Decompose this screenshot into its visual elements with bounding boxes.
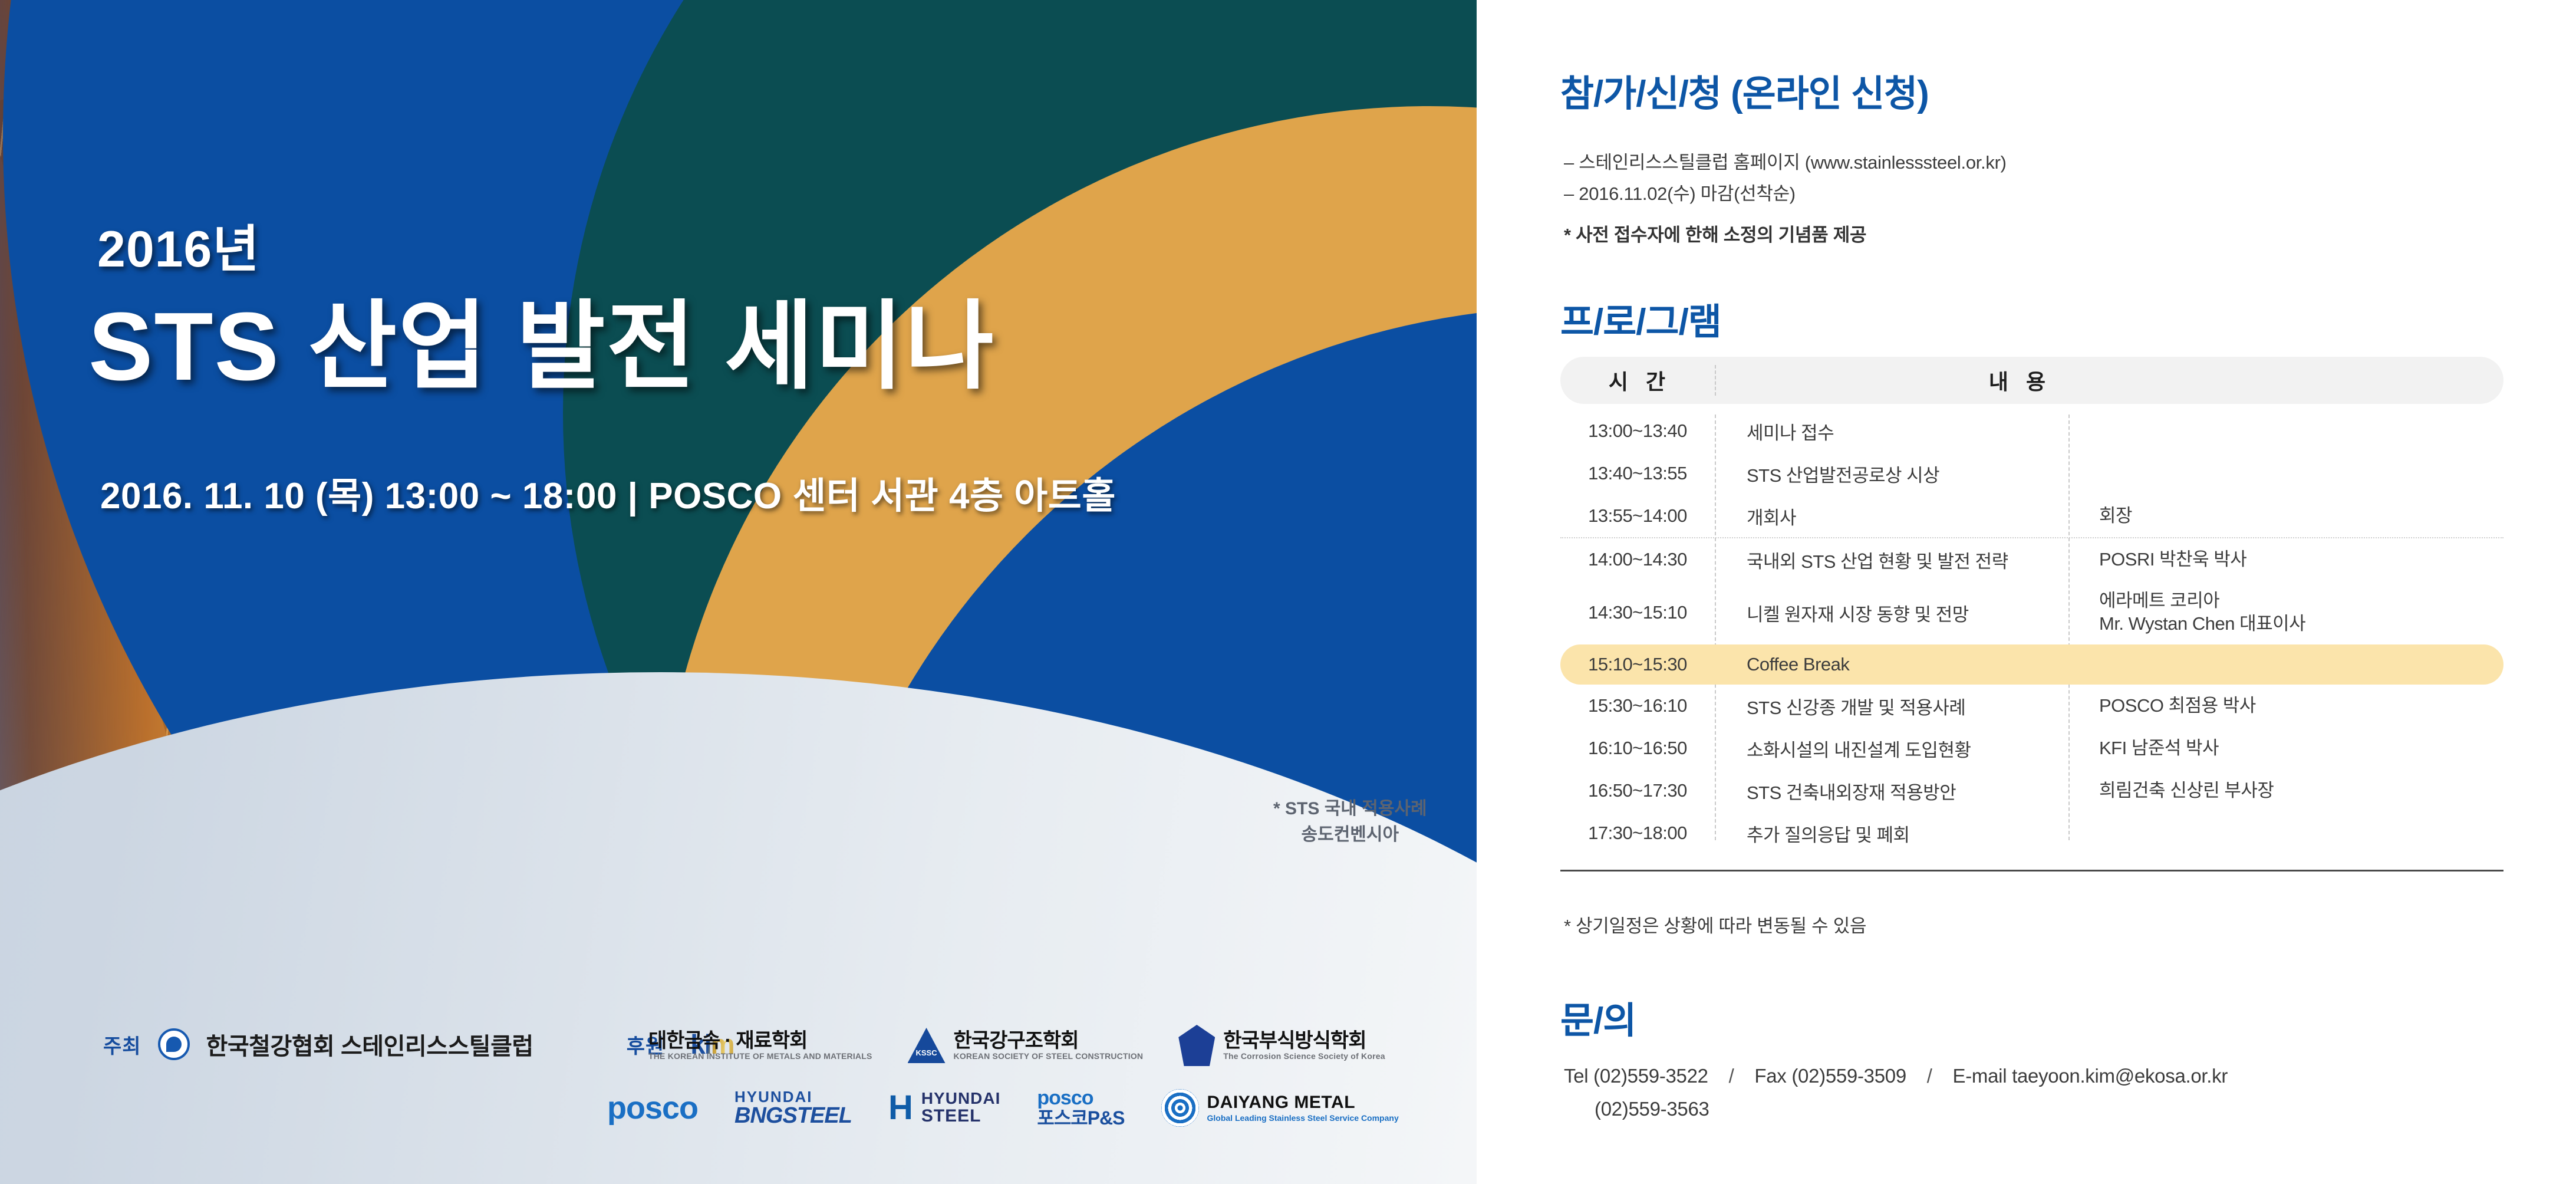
program-row: 14:30~15:10니켈 원자재 시장 동향 및 전망에라메트 코리아Mr. …: [1560, 581, 2503, 644]
contact-email-label: E-mail: [1953, 1065, 2007, 1087]
program-section-title: 프/로/그/램: [1560, 292, 1721, 345]
host-label: 주최: [103, 1030, 141, 1059]
program-row-topic: 추가 질의응답 및 폐회: [1715, 820, 2068, 847]
program-row: 15:10~15:30Coffee Break: [1560, 644, 2503, 685]
contact-secondary-tel: (02)559-3563: [1595, 1098, 1709, 1120]
posco-pns-logo: posco 포스코P&S: [1037, 1088, 1124, 1127]
program-table-bottom-rule: [1560, 870, 2503, 871]
daiyang-metal-line2: Global Leading Stainless Steel Service C…: [1207, 1113, 1399, 1123]
program-row-time: 13:55~14:00: [1560, 505, 1715, 527]
program-row-topic: 개회사: [1715, 503, 2068, 529]
program-row-time: 14:00~14:30: [1560, 549, 1715, 570]
program-row-topic: STS 신강종 개발 및 적용사례: [1715, 693, 2068, 719]
contact-email-value[interactable]: taeyoon.kim@ekosa.or.kr: [2012, 1065, 2228, 1087]
program-row-time: 15:30~16:10: [1560, 695, 1715, 716]
corrosion-society-name-kr: 한국부식방식학회: [1223, 1031, 1385, 1052]
kssc-society-name-en: KOREAN SOCIETY OF STEEL CONSTRUCTION: [954, 1052, 1144, 1061]
program-row-time: 17:30~18:00: [1560, 823, 1715, 844]
daiyang-metal-logo: DAIYANG METAL Global Leading Stainless S…: [1161, 1089, 1399, 1127]
program-row: 13:00~13:40세미나 접수: [1560, 410, 2503, 452]
program-row-speaker: 에라메트 코리아Mr. Wystan Chen 대표이사: [2068, 590, 2503, 636]
program-row-topic: Coffee Break: [1715, 654, 2068, 675]
bng-steel-logo: HYUNDAI BNGSTEEL: [734, 1089, 852, 1127]
hyundai-steel-logo: H HYUNDAI STEEL: [888, 1090, 1000, 1125]
program-table: 시 간 내 용 13:00~13:40세미나 접수13:40~13:55STS …: [1560, 357, 2503, 871]
program-row-time: 13:40~13:55: [1560, 463, 1715, 484]
contact-fax-value: (02)559-3509: [1791, 1065, 1906, 1087]
contact-primary-line: Tel (02)559-3522 / Fax (02)559-3509 / E-…: [1564, 1065, 2228, 1087]
poster-title: STS 산업 발전 세미나: [88, 268, 995, 408]
contact-section-title: 문/의: [1560, 991, 1636, 1044]
host-organization-name: 한국철강협회 스테인리스스틸클럽: [206, 1027, 533, 1061]
program-row: 13:55~14:00개회사회장: [1560, 495, 2503, 537]
photo-credit-caption: * STS 국내 적용사례 송도컨벤시아: [1273, 796, 1427, 847]
hyundai-steel-line2: STEEL: [921, 1107, 1001, 1126]
kssc-society-name-kr: 한국강구조학회: [954, 1031, 1144, 1052]
application-bullet-homepage: – 스테인리스스틸클럽 홈페이지 (www.stainlesssteel.or.…: [1564, 147, 2007, 174]
program-row-time: 14:30~15:10: [1560, 602, 1715, 623]
hyundai-steel-line1: HYUNDAI: [921, 1090, 1001, 1107]
poster-visual-panel: 2016년 STS 산업 발전 세미나 2016. 11. 10 (목) 13:…: [0, 0, 1477, 1184]
program-row-speaker: POSRI 박찬욱 박사: [2068, 548, 2503, 571]
footer-logo-row-primary: 주최 한국철강협회 스테인리스스틸클럽 후원 kim: [103, 1027, 734, 1061]
program-row-topic: STS 산업발전공로상 시상: [1715, 461, 2068, 487]
program-table-header: 시 간 내 용: [1560, 357, 2503, 404]
application-section-title: 참/가/신/청 (온라인 신청): [1560, 64, 1929, 117]
kisa-seal-icon: [158, 1028, 190, 1060]
program-table-body: 13:00~13:40세미나 접수13:40~13:55STS 산업발전공로상 …: [1560, 404, 2503, 854]
poster-info-panel: 참/가/신/청 (온라인 신청) – 스테인리스스틸클럽 홈페이지 (www.s…: [1477, 0, 2576, 1184]
program-row: 13:40~13:55STS 산업발전공로상 시상: [1560, 452, 2503, 495]
program-row: 14:00~14:30국내외 STS 산업 현황 및 발전 전략POSRI 박찬…: [1560, 538, 2503, 581]
corrosion-society-name-en: The Corrosion Science Society of Korea: [1223, 1052, 1385, 1061]
photo-credit-line2: 송도컨벤시아: [1273, 822, 1427, 848]
program-row-speaker: KFI 남준석 박사: [2068, 737, 2503, 760]
kim-society-name-kr: 대한금속 · 재료학회: [648, 1031, 872, 1052]
program-row-topic: STS 건축내외장재 적용방안: [1715, 778, 2068, 804]
program-row-speaker: POSCO 최점용 박사: [2068, 695, 2503, 718]
column-header-content: 내 용: [1714, 365, 2503, 396]
program-row-time: 16:50~17:30: [1560, 780, 1715, 801]
program-row-speaker: 회장: [2068, 505, 2503, 528]
posco-logo-icon: posco: [607, 1090, 698, 1126]
program-row-topic: 국내외 STS 산업 현황 및 발전 전략: [1715, 547, 2068, 573]
contact-fax-label: Fax: [1754, 1065, 1786, 1087]
program-row: 16:50~17:30STS 건축내외장재 적용방안희림건축 신상린 부사장: [1560, 769, 2503, 812]
program-row-topic: 니켈 원자재 시장 동향 및 전망: [1715, 600, 2068, 626]
contact-tel-value: (02)559-3522: [1593, 1065, 1708, 1087]
footer-logo-row-societies: 대한금속 · 재료학회 THE KOREAN INSTITUTE OF META…: [648, 1025, 1385, 1066]
corrosion-crystal-icon: [1178, 1025, 1215, 1066]
bng-steel-line2: BNGSTEEL: [734, 1104, 852, 1127]
program-row: 17:30~18:00추가 질의응답 및 폐회: [1560, 812, 2503, 854]
poster-datetime-venue: 2016. 11. 10 (목) 13:00 ~ 18:00 | POSCO 센…: [100, 466, 1116, 519]
program-row-speaker: 희림건축 신상린 부사장: [2068, 780, 2503, 803]
header-column-divider: [1715, 365, 1716, 396]
program-schedule-note: * 상기일정은 상황에 따라 변동될 수 있음: [1564, 911, 1866, 938]
contact-separator-2: /: [1912, 1065, 1948, 1087]
program-row-topic: 소화시설의 내진설계 도입현황: [1715, 735, 2068, 762]
seminar-poster: 2016년 STS 산업 발전 세미나 2016. 11. 10 (목) 13:…: [0, 0, 2576, 1184]
daiyang-metal-line1: DAIYANG METAL: [1207, 1093, 1399, 1113]
contact-tel-label: Tel: [1564, 1065, 1588, 1087]
program-row-topic: 세미나 접수: [1715, 418, 2068, 445]
program-row-time: 15:10~15:30: [1560, 654, 1715, 675]
hyundai-h-icon: H: [888, 1093, 913, 1123]
program-row: 15:30~16:10STS 신강종 개발 및 적용사례POSCO 최점용 박사: [1560, 685, 2503, 727]
column-header-time: 시 간: [1560, 365, 1714, 396]
application-gift-note: * 사전 접수자에 한해 소정의 기념품 제공: [1564, 220, 1866, 246]
footer-logo-row-corporate: posco HYUNDAI BNGSTEEL H HYUNDAI STEEL p…: [607, 1088, 1399, 1127]
kim-society-name-en: THE KOREAN INSTITUTE OF METALS AND MATER…: [648, 1052, 872, 1061]
kssc-triangle-icon: KSSC: [908, 1028, 946, 1063]
program-row: 16:10~16:50소화시설의 내진설계 도입현황KFI 남준석 박사: [1560, 727, 2503, 769]
corrosion-society-logo: 한국부식방식학회 The Corrosion Science Society o…: [1178, 1025, 1385, 1066]
program-row-time: 16:10~16:50: [1560, 738, 1715, 759]
daiyang-target-icon: [1161, 1089, 1199, 1127]
contact-separator-1: /: [1714, 1065, 1750, 1087]
application-bullet-deadline: – 2016.11.02(수) 마감(선착순): [1564, 179, 1796, 205]
posco-pns-line1: posco: [1037, 1088, 1124, 1109]
kim-society-logo: 대한금속 · 재료학회 THE KOREAN INSTITUTE OF META…: [648, 1031, 872, 1060]
posco-pns-line2: 포스코P&S: [1037, 1109, 1124, 1128]
bng-steel-line1: HYUNDAI: [734, 1089, 852, 1104]
program-row-time: 13:00~13:40: [1560, 420, 1715, 442]
kssc-society-logo: KSSC 한국강구조학회 KOREAN SOCIETY OF STEEL CON…: [908, 1028, 1144, 1063]
photo-credit-line1: * STS 국내 적용사례: [1273, 796, 1427, 822]
